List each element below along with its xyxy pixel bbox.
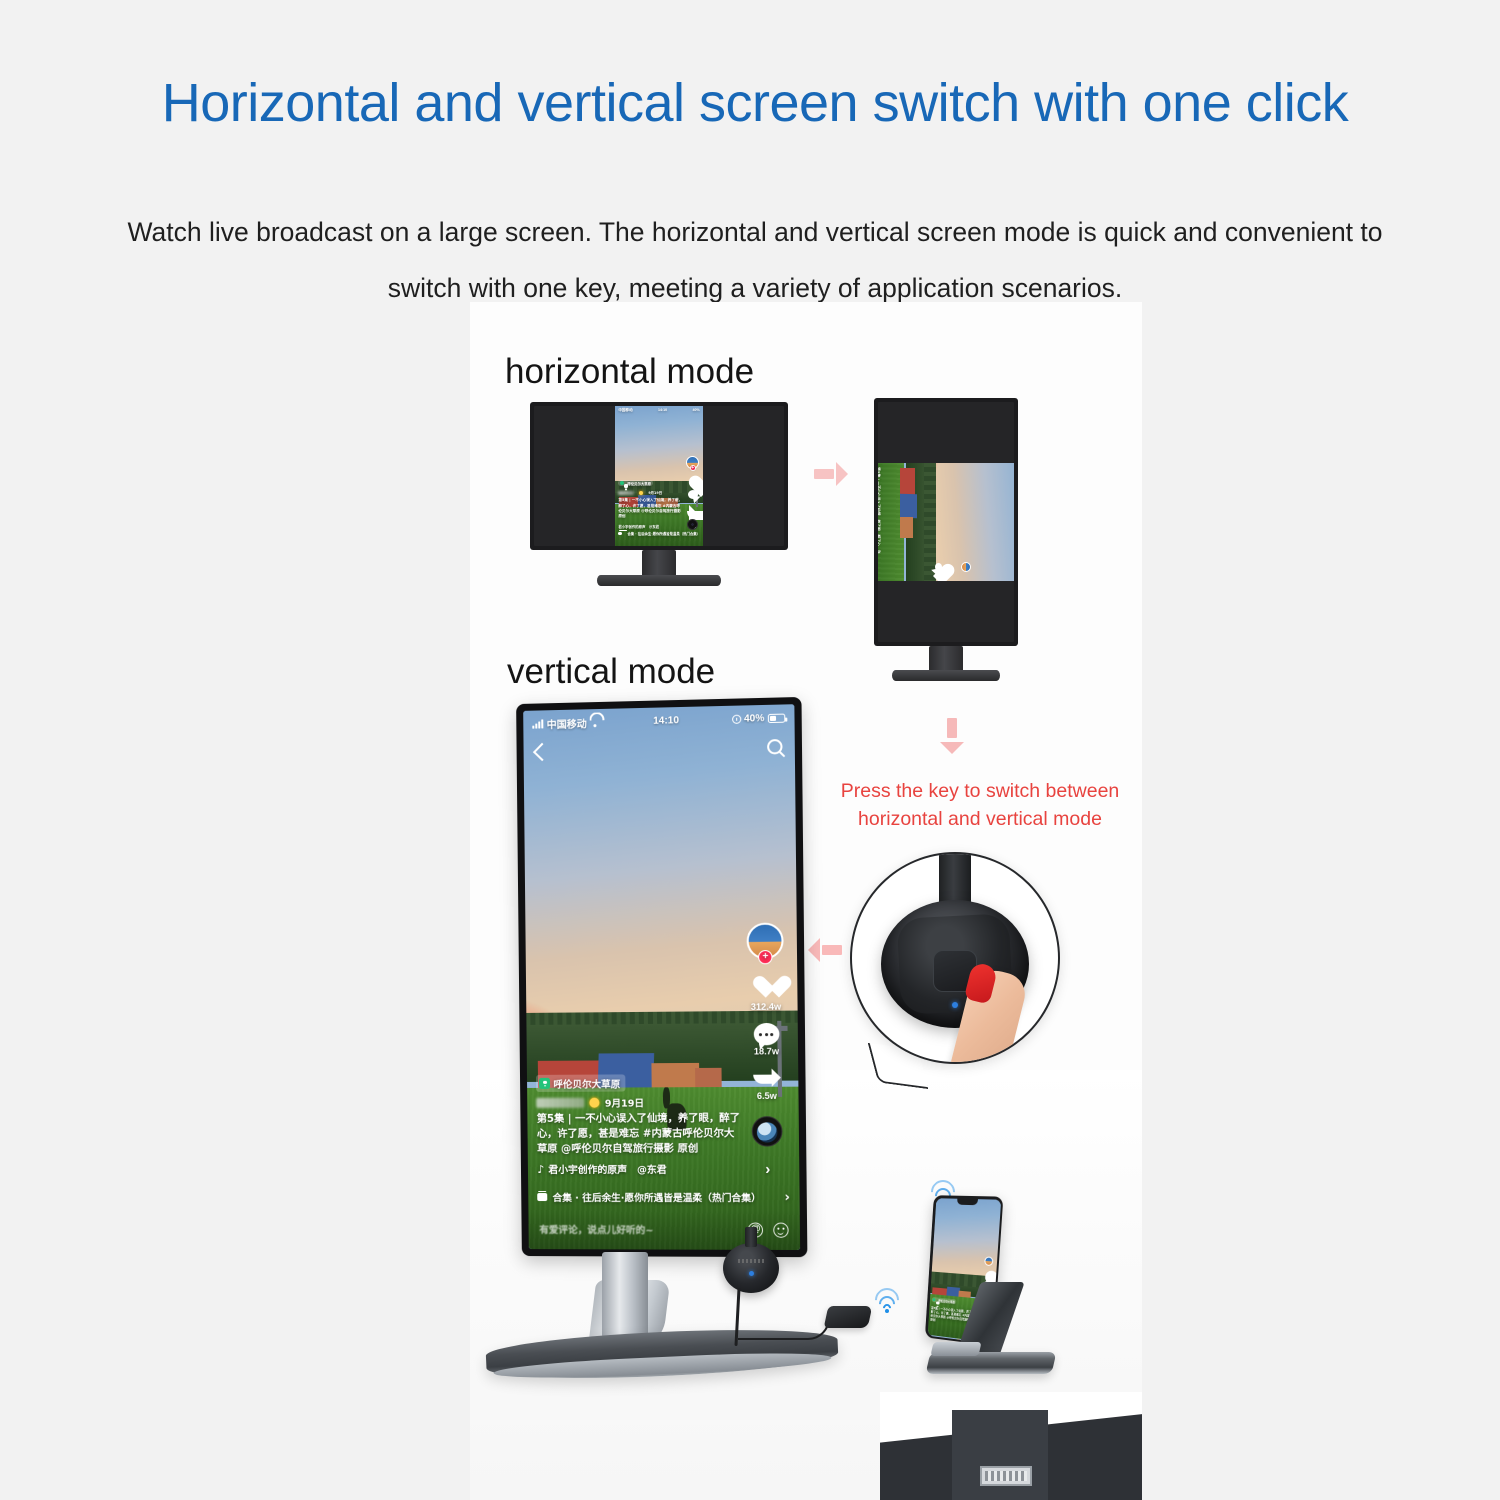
- stand-lip: [930, 1342, 981, 1356]
- status-left-group: 中国移动: [533, 715, 601, 732]
- share-count: 6.5w: [757, 1091, 777, 1101]
- rotator-led: [749, 1271, 754, 1276]
- avatar[interactable]: +: [747, 923, 784, 960]
- meta-row: 9月19日: [537, 1095, 743, 1110]
- username-blurred: [537, 1098, 585, 1108]
- comment-bubble-icon: [688, 490, 698, 499]
- music-credit: 君小宇创作的原声 @东君: [618, 524, 659, 529]
- avatar[interactable]: +: [686, 456, 699, 469]
- rotated-portrait-monitor: 第5集 | 一不小心误入了仙境，养了眼，醉了心，许了愿，甚是难忘 #内蒙古呼伦贝…: [874, 398, 1018, 646]
- monitor-bezel: 中国移动 14:10 40% +: [530, 402, 788, 550]
- battery-label: 40%: [692, 408, 699, 412]
- nav-row: [524, 739, 795, 760]
- sun-icon: [590, 1098, 600, 1108]
- alarm-icon: [732, 715, 741, 724]
- follow-badge[interactable]: +: [690, 465, 696, 471]
- heart-icon[interactable]: [984, 1271, 991, 1278]
- comment-bubble-icon: [753, 1023, 779, 1045]
- video-overlay-ui: 中国移动 14:10 40%: [523, 704, 800, 1250]
- post-date: 9月19日: [648, 490, 662, 495]
- wifi-signal-icon: [872, 1288, 902, 1312]
- smiley-icon[interactable]: [773, 1222, 789, 1237]
- monitor-screen: 中国移动 14:10 40% +: [534, 406, 784, 546]
- status-led: [952, 1002, 958, 1008]
- battery-icon: [767, 714, 785, 724]
- comment-button[interactable]: [688, 490, 698, 499]
- phone-notch: [957, 1198, 978, 1205]
- location-chip[interactable]: 呼伦贝尔大草原: [618, 480, 653, 486]
- phone-stand: [928, 1282, 1054, 1374]
- caption-text: 第5集 | 一不小心误入了仙境，养了眼，醉了心，许了愿，甚是难忘 #内蒙古呼伦贝…: [878, 467, 881, 554]
- rotated-monitor-neck: [929, 646, 963, 672]
- search-icon[interactable]: [767, 739, 783, 755]
- comment-button[interactable]: 18.7w: [753, 1023, 779, 1057]
- carrier-label: 中国移动: [547, 716, 587, 732]
- avatar[interactable]: [984, 1256, 993, 1266]
- caption-block: 第5集 | 一不小心误入了仙境，养了眼，醉了心，许了愿，甚是难忘 #内蒙古呼伦贝…: [878, 467, 881, 554]
- battery-label: 40%: [744, 714, 765, 726]
- status-right-group: 40%: [732, 713, 785, 725]
- product-feature-page: Horizontal and vertical screen switch wi…: [0, 0, 1500, 1500]
- clock: 14:10: [653, 716, 679, 728]
- playlist-bar[interactable]: 合集 · 往后余生·愿你所遇皆是温柔（热门合集） ›: [538, 1190, 790, 1205]
- rotator-mount[interactable]: [723, 1243, 779, 1293]
- status-bar: 中国移动 14:10 40%: [615, 406, 703, 414]
- phone-on-stand: 呼伦贝尔大草原 第5集 | 一不小心误入了仙境，养了眼，醉了心，许了愿，甚是难忘…: [918, 1196, 1066, 1374]
- comment-count: 18.7w: [754, 1046, 779, 1056]
- video-scene-horizontal: 中国移动 14:10 40% +: [615, 406, 703, 546]
- rotated-video-wrapper: 第5集 | 一不小心误入了仙境，养了眼，醉了心，许了愿，甚是难忘 #内蒙古呼伦贝…: [878, 463, 1014, 581]
- status-bar: 中国移动 14:10 40%: [523, 704, 794, 739]
- callout-circle: [850, 852, 1060, 1064]
- button-press-callout: [850, 852, 1060, 1064]
- share-arrow-icon: [687, 504, 698, 513]
- dongle-cable: [738, 1318, 830, 1340]
- heart-icon: [688, 476, 698, 485]
- music-disc-icon[interactable]: [687, 519, 698, 530]
- location-chip[interactable]: 呼伦贝尔大草原: [536, 1074, 625, 1092]
- horizontal-monitor-base: [597, 575, 721, 586]
- page-subheadline: Watch live broadcast on a large screen. …: [100, 205, 1410, 316]
- action-rail: + 312.4w 18.7w 6.5w: [742, 923, 791, 1179]
- page-headline: Horizontal and vertical screen switch wi…: [110, 72, 1400, 134]
- horizontal-monitor: 中国移动 14:10 40% +: [530, 402, 788, 550]
- avatar[interactable]: [961, 562, 971, 572]
- heart-icon: [752, 976, 779, 1001]
- desk-cabinet: [880, 1392, 1142, 1500]
- caption-block: 呼伦贝尔大草原 9月19日 第5集 | 一不小心误入了仙境，养了眼，醉了心，许了…: [618, 480, 683, 529]
- like-button[interactable]: [688, 476, 698, 485]
- signal-bars-icon: [533, 720, 544, 729]
- location-label: 呼伦贝尔大草原: [627, 481, 651, 486]
- vertical-monitor-neck: [602, 1252, 648, 1338]
- playlist-label: 合集 · 往后余生·愿你所遇皆是温柔（热门合集）: [627, 531, 699, 536]
- back-chevron-icon[interactable]: [533, 743, 551, 761]
- username-blurred: [618, 491, 634, 495]
- follow-badge[interactable]: +: [758, 950, 772, 964]
- location-label: 呼伦贝尔大草原: [553, 1076, 620, 1090]
- wireless-dongle: [824, 1306, 873, 1328]
- label-horizontal-mode: horizontal mode: [505, 352, 754, 392]
- caption-text: 第5集 | 一不小心误入了仙境，养了眼，醉了心，许了愿，甚是难忘 #内蒙古呼伦贝…: [537, 1112, 743, 1157]
- monitor-screen: 中国移动 14:10 40%: [523, 704, 800, 1250]
- arrow-left-icon: [808, 938, 842, 962]
- action-rail: [935, 557, 971, 577]
- share-button[interactable]: 6.5w: [753, 1068, 781, 1102]
- caption-block: 呼伦贝尔大草原 9月19日 第5集 | 一不小心误入了仙境，养了眼，醉了心，许了…: [536, 1073, 743, 1177]
- sun-icon: [639, 491, 643, 495]
- cabinet-vent: [980, 1466, 1032, 1486]
- video-scene-rotated: 第5集 | 一不小心误入了仙境，养了眼，醉了心，许了愿，甚是难忘 #内蒙古呼伦贝…: [878, 463, 1014, 581]
- switch-instruction-text: Press the key to switch between horizont…: [800, 778, 1160, 833]
- like-count: 312.4w: [751, 1002, 781, 1012]
- comment-input[interactable]: 有爱评论，说点儿好听的~: [539, 1222, 653, 1236]
- horizontal-monitor-neck: [642, 550, 676, 577]
- next-video-chevron-icon[interactable]: ›: [765, 1161, 770, 1178]
- music-row[interactable]: ♪ 君小宇创作的原声 @东君: [537, 1162, 743, 1176]
- clock: 14:10: [658, 408, 667, 412]
- action-rail: +: [685, 456, 700, 530]
- playlist-bar[interactable]: 合集 · 往后余生·愿你所遇皆是温柔（热门合集）: [618, 531, 699, 536]
- cabinet-panel: [952, 1410, 1048, 1500]
- music-disc-icon[interactable]: [752, 1116, 783, 1146]
- location-pin-icon: [539, 1078, 550, 1089]
- playlist-icon: [618, 532, 622, 535]
- rotated-monitor-base: [892, 670, 1000, 681]
- like-button[interactable]: 312.4w: [751, 976, 782, 1012]
- post-date: 9月19日: [605, 1095, 644, 1109]
- share-arrow-icon: [753, 1068, 781, 1090]
- share-button[interactable]: [687, 504, 698, 513]
- location-pin-icon: [620, 481, 624, 485]
- rotator-brand-label: [738, 1259, 764, 1263]
- meta-row: 9月19日: [618, 490, 683, 495]
- vertical-monitor: 中国移动 14:10 40%: [516, 697, 807, 1257]
- wifi-icon: [590, 718, 601, 727]
- monitor-bezel: 第5集 | 一不小心误入了仙境，养了眼，醉了心，许了愿，甚是难忘 #内蒙古呼伦贝…: [874, 398, 1018, 646]
- video-overlay-ui: 中国移动 14:10 40% +: [615, 406, 703, 546]
- label-vertical-mode: vertical mode: [507, 652, 715, 692]
- carrier-label: 中国移动: [618, 408, 632, 413]
- heart-icon[interactable]: [947, 563, 954, 571]
- music-note-icon: ♪: [537, 1163, 544, 1176]
- playlist-icon: [538, 1193, 548, 1201]
- arrow-right-icon: [814, 462, 848, 486]
- arrow-down-icon: [940, 718, 964, 754]
- music-row[interactable]: 君小宇创作的原声 @东君: [618, 524, 683, 529]
- playlist-label: 合集 · 往后余生·愿你所遇皆是温柔（热门合集）: [553, 1190, 761, 1204]
- video-scene-vertical: 中国移动 14:10 40%: [523, 704, 800, 1250]
- caption-text: 第5集 | 一不小心误入了仙境，养了眼，醉了心，许了愿，甚是难忘 #内蒙古呼伦贝…: [618, 498, 683, 519]
- playlist-chevron-icon[interactable]: ›: [784, 1190, 790, 1205]
- monitor-screen: 第5集 | 一不小心误入了仙境，养了眼，醉了心，许了愿，甚是难忘 #内蒙古呼伦贝…: [878, 402, 1014, 642]
- video-overlay-ui: 第5集 | 一不小心误入了仙境，养了眼，醉了心，许了愿，甚是难忘 #内蒙古呼伦贝…: [878, 463, 1014, 581]
- music-credit: 君小宇创作的原声 @东君: [548, 1162, 666, 1176]
